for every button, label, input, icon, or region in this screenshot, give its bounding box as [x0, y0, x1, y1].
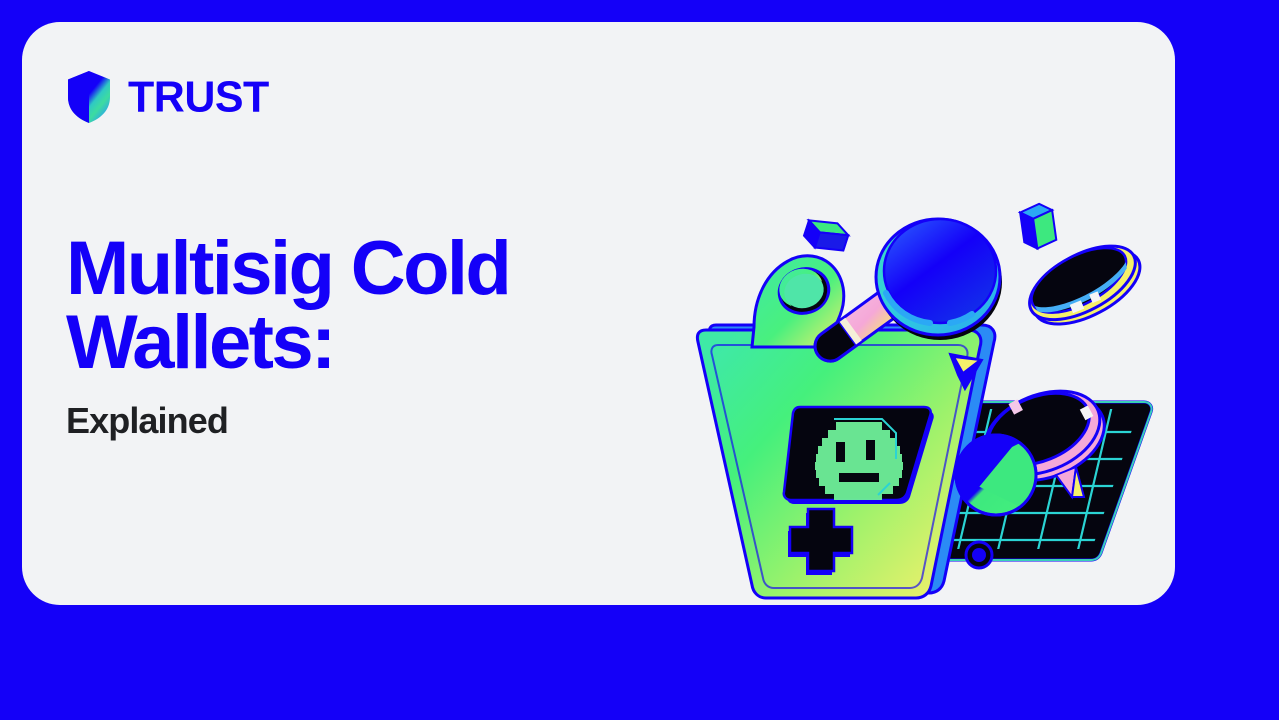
hero-card: TRUST Multisig Cold Wallets: Explained [22, 22, 1175, 605]
cube-small-top-left [802, 215, 851, 257]
sphere [956, 435, 1036, 515]
hero-text-block: Multisig Cold Wallets: Explained [66, 232, 686, 439]
multisig-cold-wallet-illustration [682, 197, 1175, 602]
coin-blue [876, 219, 1002, 340]
console-corner-hole [966, 542, 992, 568]
cube-small-top-right [1019, 202, 1057, 250]
brand-logo[interactable]: TRUST [66, 70, 269, 124]
pixel-smiley-icon [815, 419, 903, 500]
brand-wordmark: TRUST [128, 75, 269, 119]
page-subtitle: Explained [66, 403, 686, 439]
page-title: Multisig Cold Wallets: [66, 232, 686, 381]
shield-icon [66, 70, 112, 124]
console-screen [784, 407, 934, 504]
